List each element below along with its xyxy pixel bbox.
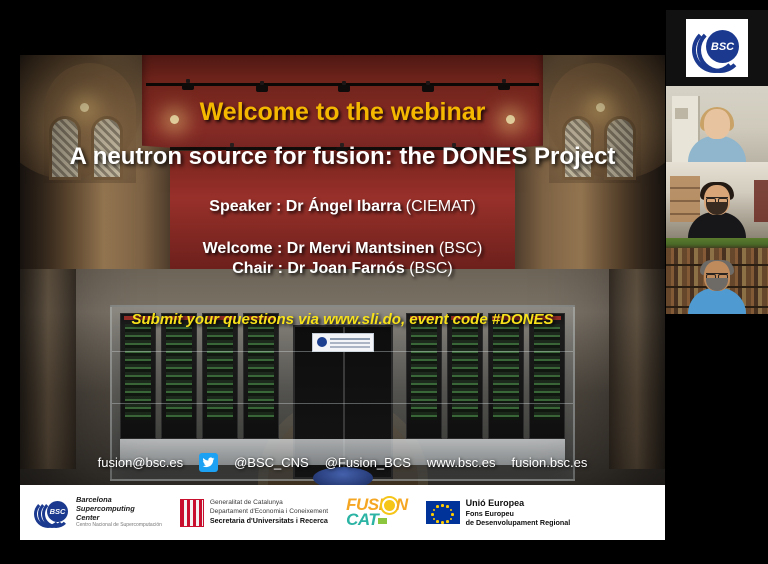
slide-slido-line: Submit your questions via www.sli.do, ev… bbox=[20, 311, 665, 328]
gencat-line-3: Secretaria d'Universitats i Recerca bbox=[210, 516, 328, 525]
speaker-org: (CIEMAT) bbox=[406, 198, 476, 215]
eu-flag-icon bbox=[426, 501, 460, 524]
shared-slide[interactable]: Welcome to the webinar A neutron source … bbox=[20, 55, 665, 540]
generalitat-logo: Generalitat de Catalunya Departament d'E… bbox=[180, 499, 328, 527]
fusioncat-cat: CAT bbox=[346, 510, 378, 529]
slide-chair-line: Chair : Dr Joan Farnós (BSC) bbox=[20, 260, 665, 278]
contact-website[interactable]: www.bsc.es bbox=[427, 455, 496, 470]
slide-welcome-by-line: Welcome : Dr Mervi Mantsinen (BSC) bbox=[20, 240, 665, 258]
contact-twitter-fusion[interactable]: @Fusion_BCS bbox=[325, 455, 411, 470]
sun-icon bbox=[384, 500, 395, 511]
speaker-name: Speaker : Dr Ángel Ibarra bbox=[209, 198, 401, 215]
sponsor-logo-bar: BSC Barcelona Supercomputing Center Cent… bbox=[20, 485, 665, 540]
gencat-line-1: Generalitat de Catalunya bbox=[210, 499, 328, 508]
bsc-mark-text-large: BSC bbox=[706, 30, 739, 63]
bsc-logo-tile[interactable]: BSC bbox=[666, 10, 768, 86]
bsc-mark-icon: BSC bbox=[34, 498, 70, 528]
participant-tile-1[interactable] bbox=[666, 86, 768, 162]
bsc-logo: BSC Barcelona Supercomputing Center Cent… bbox=[34, 496, 162, 528]
participant-video-rail: BSC bbox=[666, 10, 768, 314]
eu-line-3: de Desenvolupament Regional bbox=[466, 518, 571, 527]
fusioncat-n: N bbox=[396, 495, 408, 514]
slide-welcome-heading: Welcome to the webinar bbox=[20, 98, 665, 127]
avatar bbox=[688, 109, 746, 162]
slide-contacts-row: fusion@bsc.es @BSC_CNS @Fusion_BCS www.b… bbox=[20, 453, 665, 472]
chair-name: Chair : Dr Joan Farnós bbox=[232, 260, 404, 277]
welcome-by-name: Welcome : Dr Mervi Mantsinen bbox=[203, 240, 435, 257]
bsc-mark-text: BSC bbox=[47, 501, 68, 522]
plug-icon bbox=[378, 518, 387, 524]
senyera-flag-icon bbox=[180, 499, 204, 527]
participant-tile-3[interactable] bbox=[666, 238, 768, 314]
participant-tile-2[interactable] bbox=[666, 162, 768, 238]
bsc-mark-icon-large: BSC bbox=[692, 25, 742, 71]
avatar bbox=[688, 185, 746, 238]
contact-email[interactable]: fusion@bsc.es bbox=[98, 455, 183, 470]
eu-line-2: Fons Europeu bbox=[466, 509, 571, 518]
welcome-by-org: (BSC) bbox=[439, 240, 483, 257]
slide-speaker-line: Speaker : Dr Ángel Ibarra (CIEMAT) bbox=[20, 198, 665, 216]
chair-org: (BSC) bbox=[409, 260, 453, 277]
contact-fusion-site[interactable]: fusion.bsc.es bbox=[512, 455, 588, 470]
avatar bbox=[688, 261, 746, 314]
meeting-screen: Welcome to the webinar A neutron source … bbox=[0, 0, 768, 564]
slide-title: A neutron source for fusion: the DONES P… bbox=[20, 143, 665, 171]
contact-twitter-bsc[interactable]: @BSC_CNS bbox=[234, 455, 309, 470]
fusioncat-logo: FUSIN CAT bbox=[346, 498, 408, 527]
eu-logo: Unió Europea Fons Europeu de Desenvolupa… bbox=[426, 498, 571, 527]
bsc-line-4: Centro Nacional de Supercomputación bbox=[76, 523, 162, 529]
twitter-bird-icon bbox=[199, 453, 218, 472]
gencat-line-2: Departament d'Economia i Coneixement bbox=[210, 508, 328, 517]
eu-line-1: Unió Europea bbox=[466, 498, 571, 509]
